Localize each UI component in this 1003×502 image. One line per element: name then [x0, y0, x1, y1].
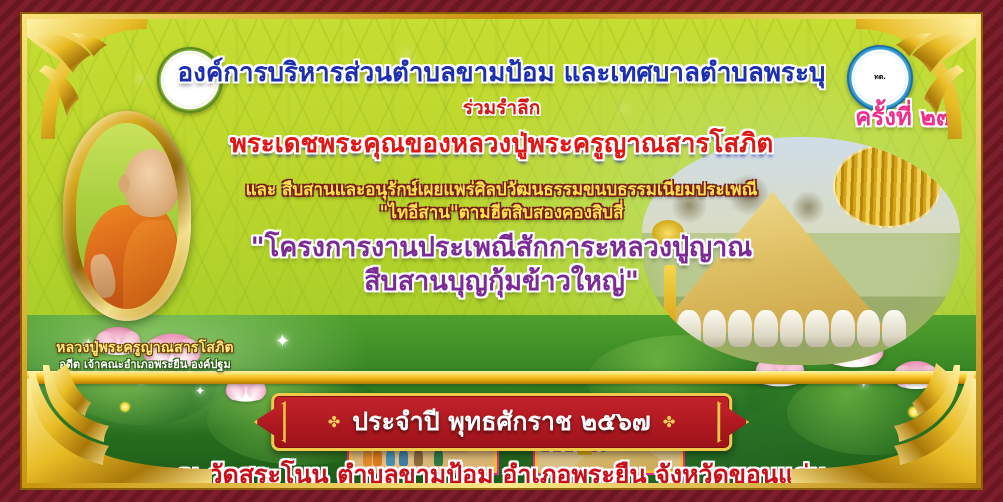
rice-sack [754, 310, 778, 346]
rice-sack-row [652, 310, 906, 346]
rice-sack [882, 310, 906, 346]
year-ribbon-text: ประจำปี พุทธศักราช ๒๕๖๗ [352, 402, 650, 442]
portrait-caption-title: อดีต เจ้าคณะอำเภอพระยืน องค์ปฐม [33, 355, 257, 373]
event-banner: ✦ ✦ ✦ ✦ ✦ [0, 0, 1003, 502]
commemorate-label: ร่วมรำลึก [27, 93, 976, 123]
edition-badge: ครั้งที่ ๒๗ [855, 97, 954, 136]
venue-line: ณ วัดสระโนน ตำบลขามป้อม อำเภอพระยืน จังห… [27, 455, 976, 488]
year-ribbon: ✤ ประจำปี พุทธศักราช ๒๕๖๗ ✤ [271, 393, 733, 451]
rice-sack [703, 310, 727, 346]
rice-sack [857, 310, 881, 346]
rice-sack [728, 310, 752, 346]
rice-sack [831, 310, 855, 346]
event-title-line-2: สืบสานบุญกุ้มข้าวใหญ่" [27, 259, 976, 302]
rice-sack [805, 310, 829, 346]
glow-light [907, 405, 921, 419]
sparkle: ✦ [195, 385, 205, 397]
ribbon-diamond-right-icon: ✤ [663, 413, 676, 431]
ribbon-diamond-left-icon: ✤ [328, 413, 341, 431]
honoree-line: พระเดชพระคุณของหลวงปู่พระครูญาณสารโสภิต [27, 123, 976, 164]
glow-light [119, 401, 131, 413]
header-organization-line: องค์การบริหารส่วนตำบลขามป้อม และเทศบาลตำ… [27, 52, 976, 93]
gold-frame: ✦ ✦ ✦ ✦ ✦ [22, 14, 981, 488]
purpose-line-2: "ไทอีสาน"ตามฮีตสิบสองคองสิบสี่ [27, 199, 976, 226]
rice-sack [677, 310, 701, 346]
sparkle: ✦ [275, 333, 290, 351]
rice-sack [780, 310, 804, 346]
